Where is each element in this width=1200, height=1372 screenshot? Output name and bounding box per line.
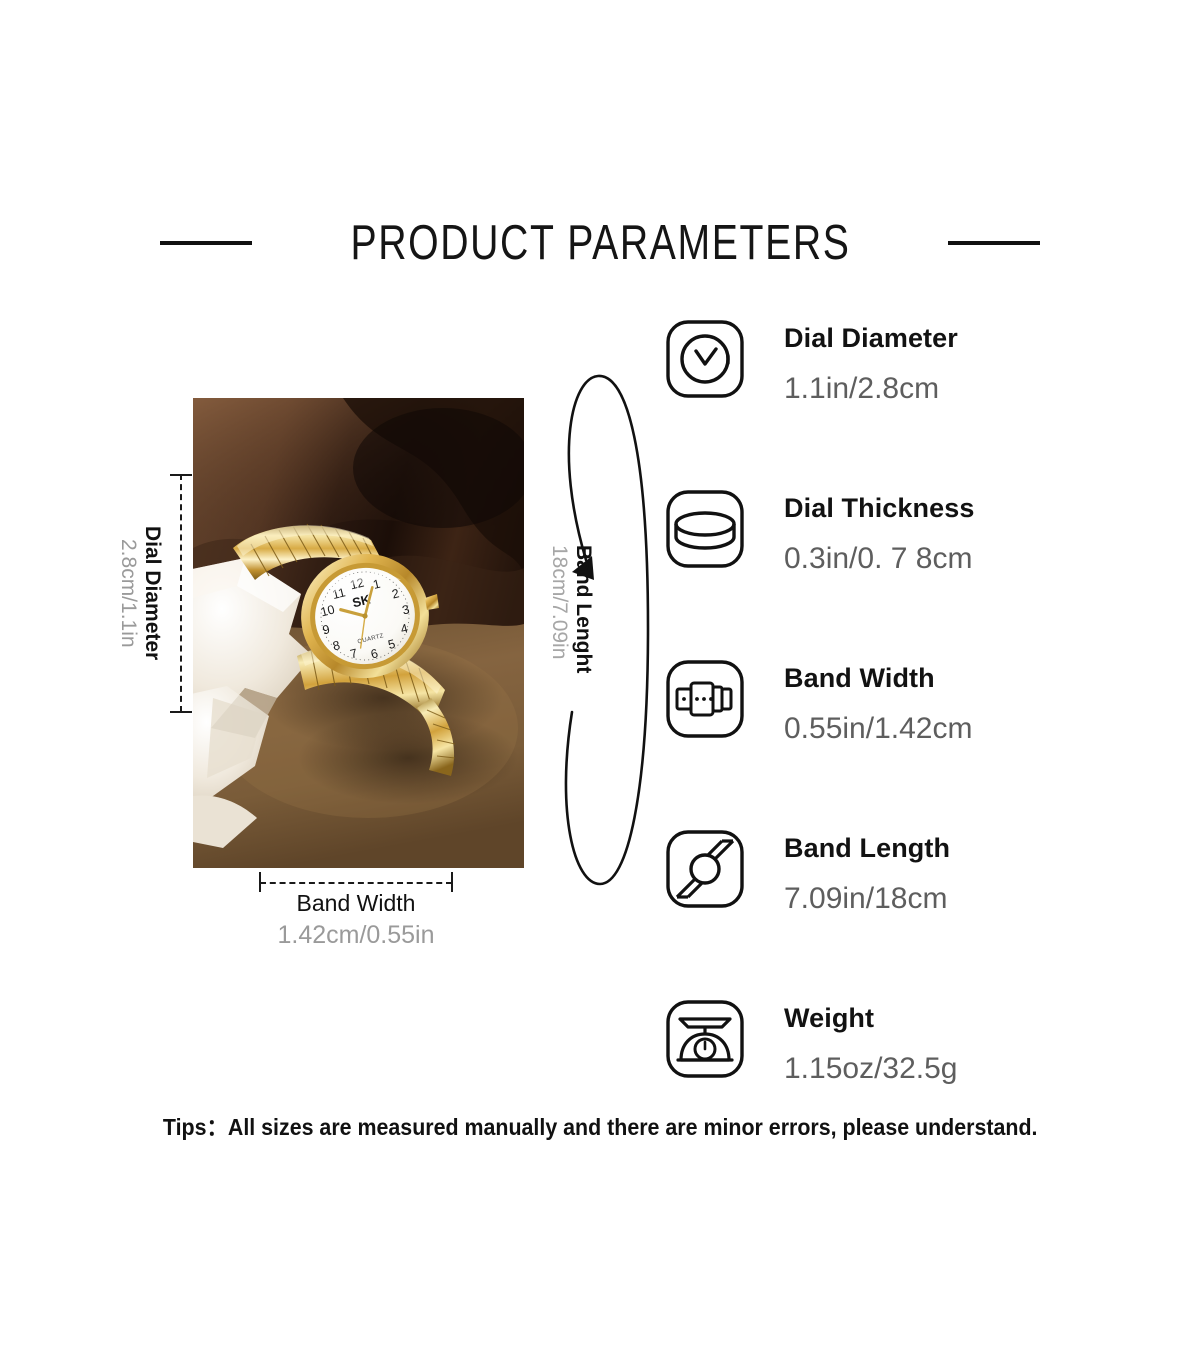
title-rule-left bbox=[160, 241, 252, 245]
tips-note: Tips：All sizes are measured manually and… bbox=[0, 1108, 1200, 1142]
band-length-callout-label: Band Lenght bbox=[572, 545, 594, 673]
dial-diameter-callout-value: 2.8cm/1.1in bbox=[117, 539, 139, 648]
spec-label-weight: Weight bbox=[784, 1004, 1134, 1034]
dial-diameter-callout-label: Dial Diameter bbox=[141, 526, 163, 660]
spec-value-band-width: 0.55in/1.42cm bbox=[784, 712, 1134, 745]
watch-dial-icon bbox=[664, 318, 746, 400]
dial-diameter-callout: Dial Diameter 2.8cm/1.1in bbox=[107, 474, 173, 712]
band-length-callout-value: 18cm/7.09in bbox=[548, 545, 570, 659]
band-width-callout-value: 1.42cm/0.55in bbox=[230, 919, 482, 953]
spec-text-band-width: Band Width 0.55in/1.42cm bbox=[784, 664, 1134, 745]
kitchen-scale-icon bbox=[664, 998, 746, 1080]
spec-row-dial-thickness: Dial Thickness 0.3in/0. 7 8cm bbox=[664, 488, 1134, 658]
spec-value-dial-thickness: 0.3in/0. 7 8cm bbox=[784, 542, 1134, 575]
spec-row-band-length: Band Length 7.09in/18cm bbox=[664, 828, 1134, 998]
spec-text-weight: Weight 1.15oz/32.5g bbox=[784, 1004, 1134, 1085]
page-title: PRODUCT PARAMETERS bbox=[350, 219, 850, 268]
spec-value-weight: 1.15oz/32.5g bbox=[784, 1052, 1134, 1085]
product-photo-illustration: 12 1 2 3 4 5 6 7 8 9 10 11 SK QUARTZ bbox=[193, 398, 524, 868]
spec-label-band-width: Band Width bbox=[784, 664, 1134, 694]
band-width-callout: Band Width 1.42cm/0.55in bbox=[230, 888, 482, 953]
spec-row-weight: Weight 1.15oz/32.5g bbox=[664, 998, 1134, 1168]
spec-value-band-length: 7.09in/18cm bbox=[784, 882, 1134, 915]
spec-row-dial-diameter: Dial Diameter 1.1in/2.8cm bbox=[664, 318, 1134, 488]
spec-label-dial-diameter: Dial Diameter bbox=[784, 324, 1134, 354]
spec-text-dial-diameter: Dial Diameter 1.1in/2.8cm bbox=[784, 324, 1134, 405]
tips-note-text: Tips：All sizes are measured manually and… bbox=[163, 1108, 1038, 1142]
product-photo: 12 1 2 3 4 5 6 7 8 9 10 11 SK QUARTZ bbox=[193, 398, 524, 868]
spec-value-dial-diameter: 1.1in/2.8cm bbox=[784, 372, 1134, 405]
spec-text-band-length: Band Length 7.09in/18cm bbox=[784, 834, 1134, 915]
spec-label-dial-thickness: Dial Thickness bbox=[784, 494, 1134, 524]
diagonal-watch-icon bbox=[664, 828, 746, 910]
spec-label-band-length: Band Length bbox=[784, 834, 1134, 864]
page-header: PRODUCT PARAMETERS bbox=[0, 208, 1200, 278]
watch-band-clasp-icon bbox=[664, 658, 746, 740]
dial-diameter-dimension-line bbox=[180, 474, 183, 712]
band-length-callout: Band Lenght 18cm/7.09in bbox=[548, 545, 594, 745]
spec-row-band-width: Band Width 0.55in/1.42cm bbox=[664, 658, 1134, 828]
spec-list: Dial Diameter 1.1in/2.8cm Dial Thickness… bbox=[664, 318, 1134, 1168]
band-width-callout-label: Band Width bbox=[230, 888, 482, 919]
spec-text-dial-thickness: Dial Thickness 0.3in/0. 7 8cm bbox=[784, 494, 1134, 575]
dial-thickness-cylinder-icon bbox=[664, 488, 746, 570]
dial-diameter-cap-bottom bbox=[170, 711, 192, 713]
band-width-dimension-line bbox=[260, 882, 452, 884]
title-rule-right bbox=[948, 241, 1040, 245]
